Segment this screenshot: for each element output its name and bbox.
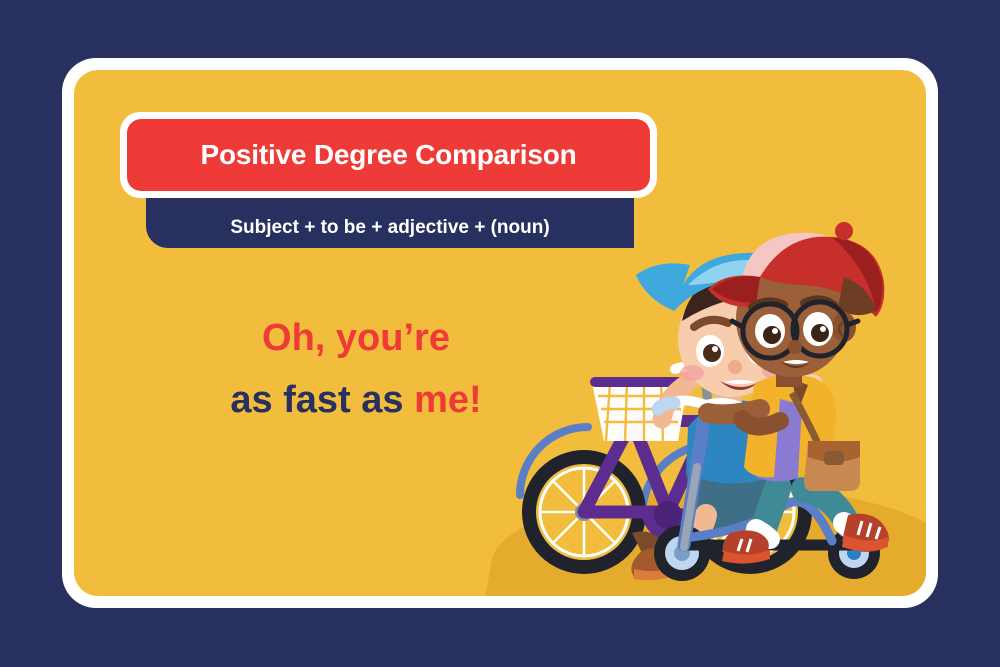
card-white-frame: Subject + to be + adjective + (noun) Pos… (62, 58, 938, 608)
example-line-1-text: Oh, you’re (262, 317, 450, 359)
example-line-1: Oh, you’re (126, 307, 586, 369)
example-line-2: as fast as me! (126, 369, 586, 431)
poster-canvas: Subject + to be + adjective + (noun) Pos… (0, 0, 1000, 667)
example-line-2-prefix: as fast as (230, 379, 414, 421)
formula-text: Subject + to be + adjective + (noun) (230, 217, 549, 239)
poster-card: Subject + to be + adjective + (noun) Pos… (74, 70, 926, 596)
page-title: Positive Degree Comparison (200, 139, 576, 171)
title-pill: Positive Degree Comparison (127, 119, 650, 191)
example-line-2-accent: me! (414, 379, 482, 421)
example-sentence: Oh, you’re as fast as me! (126, 307, 586, 431)
title-banner: Positive Degree Comparison (120, 112, 657, 198)
